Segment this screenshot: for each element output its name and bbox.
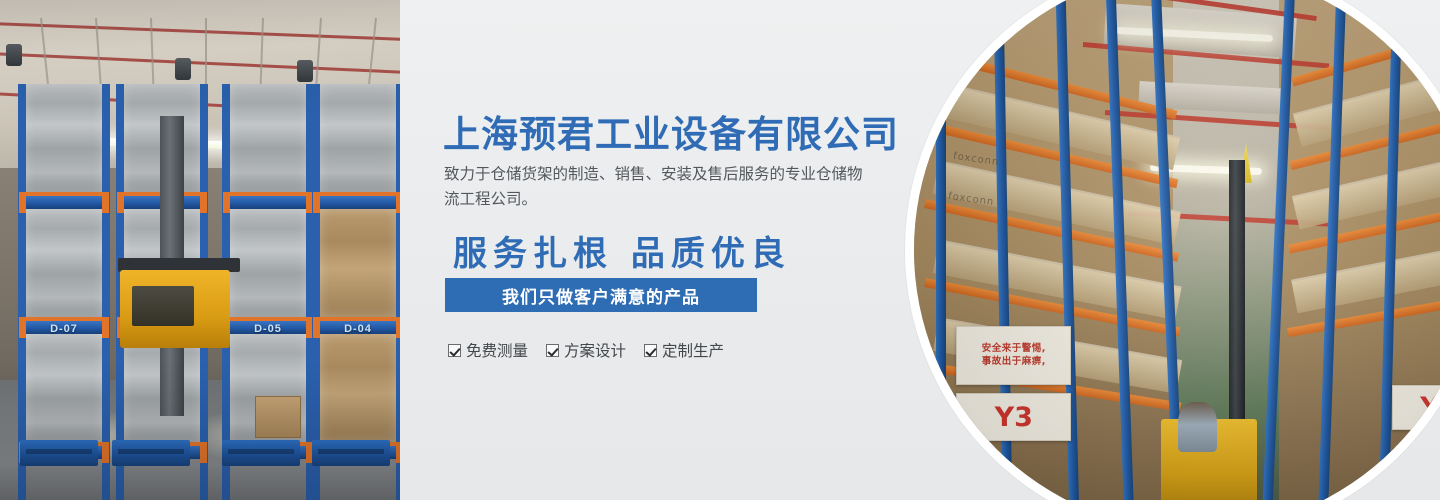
rack-shelf-beam: D-05 (226, 317, 310, 334)
hero-text-block: 上海预君工业设备有限公司 致力于仓储货架的制造、销售、安装及售后服务的专业仓储物… (443, 0, 913, 500)
checkbox-checked-icon (644, 344, 657, 357)
rack-label: D-07 (50, 323, 78, 335)
feature-item: 免费测量 (448, 339, 528, 361)
company-subtitle: 致力于仓储货架的制造、销售、安装及售后服务的专业仓储物流工程公司。 (444, 162, 864, 212)
forklift-cab (132, 286, 194, 326)
safety-sign-line-1: 安全来于警惕, (982, 343, 1046, 355)
checkbox-checked-icon (546, 344, 559, 357)
rack-shelf-beam: D-04 (316, 317, 400, 334)
rack-load (316, 209, 400, 317)
rack-upright (312, 84, 320, 500)
safety-sign-line-2: 事故出于麻痹, (982, 356, 1046, 368)
aisle-sign: Y3 (956, 393, 1071, 441)
forklift-driver (1178, 402, 1217, 453)
feature-list: 免费测量 方案设计 定制生产 (448, 339, 724, 361)
blue-pallet (112, 440, 190, 466)
cardboard-carton (255, 396, 301, 438)
rack-shelf-beam (226, 192, 310, 209)
blue-pallet (312, 440, 390, 466)
company-title: 上海预君工业设备有限公司 (443, 104, 899, 158)
feature-label: 定制生产 (662, 339, 724, 361)
rack-shelf-beam (316, 192, 400, 209)
rack-shelf-beam (22, 192, 106, 209)
rack-load (22, 84, 106, 192)
ceiling-lamp-icon (175, 58, 191, 80)
rack-upright (18, 84, 26, 500)
rack-load (226, 84, 310, 192)
rack-load (316, 334, 400, 442)
rack-column: D-07 (22, 84, 106, 414)
blue-pallet (20, 440, 98, 466)
rack-load (22, 334, 106, 442)
feature-label: 方案设计 (564, 339, 626, 361)
rack-column: D-04 (316, 84, 400, 414)
rack-label: D-05 (254, 323, 282, 335)
rack-load (22, 209, 106, 317)
hero-banner: D-07 D-06 D-05 (0, 0, 1440, 500)
company-slogan: 服务扎根 品质优良 (453, 226, 791, 275)
feature-label: 免费测量 (466, 339, 528, 361)
rack-upright (936, 0, 946, 500)
aisle-sign-far: Y3 (1392, 385, 1440, 430)
cta-label: 我们只做客户满意的产品 (502, 283, 700, 308)
ceiling-lamp-icon (6, 44, 22, 66)
aisle-sign-far-label: Y3 (1420, 394, 1440, 421)
rack-upright (102, 84, 110, 500)
rack-load (316, 84, 400, 192)
aisle-sign-label: Y3 (995, 404, 1033, 431)
warehouse-aisle-photo: foxconn foxconn foxconn foxconn 安全来于警惕, … (914, 0, 1440, 500)
feature-item: 方案设计 (546, 339, 626, 361)
rack-column: D-05 (226, 84, 310, 414)
cta-banner[interactable]: 我们只做客户满意的产品 (445, 278, 757, 312)
right-circular-photo: foxconn foxconn foxconn foxconn 安全来于警惕, … (905, 0, 1440, 500)
checkbox-checked-icon (448, 344, 461, 357)
blue-pallet (222, 440, 300, 466)
feature-item: 定制生产 (644, 339, 724, 361)
rack-label: D-04 (344, 323, 372, 335)
rack-upright (396, 84, 400, 500)
left-warehouse-photo: D-07 D-06 D-05 (0, 0, 400, 500)
ceiling-lamp-icon (297, 60, 313, 82)
safety-sign: 安全来于警惕, 事故出于麻痹, (956, 326, 1071, 385)
rack-shelf-beam: D-07 (22, 317, 106, 334)
